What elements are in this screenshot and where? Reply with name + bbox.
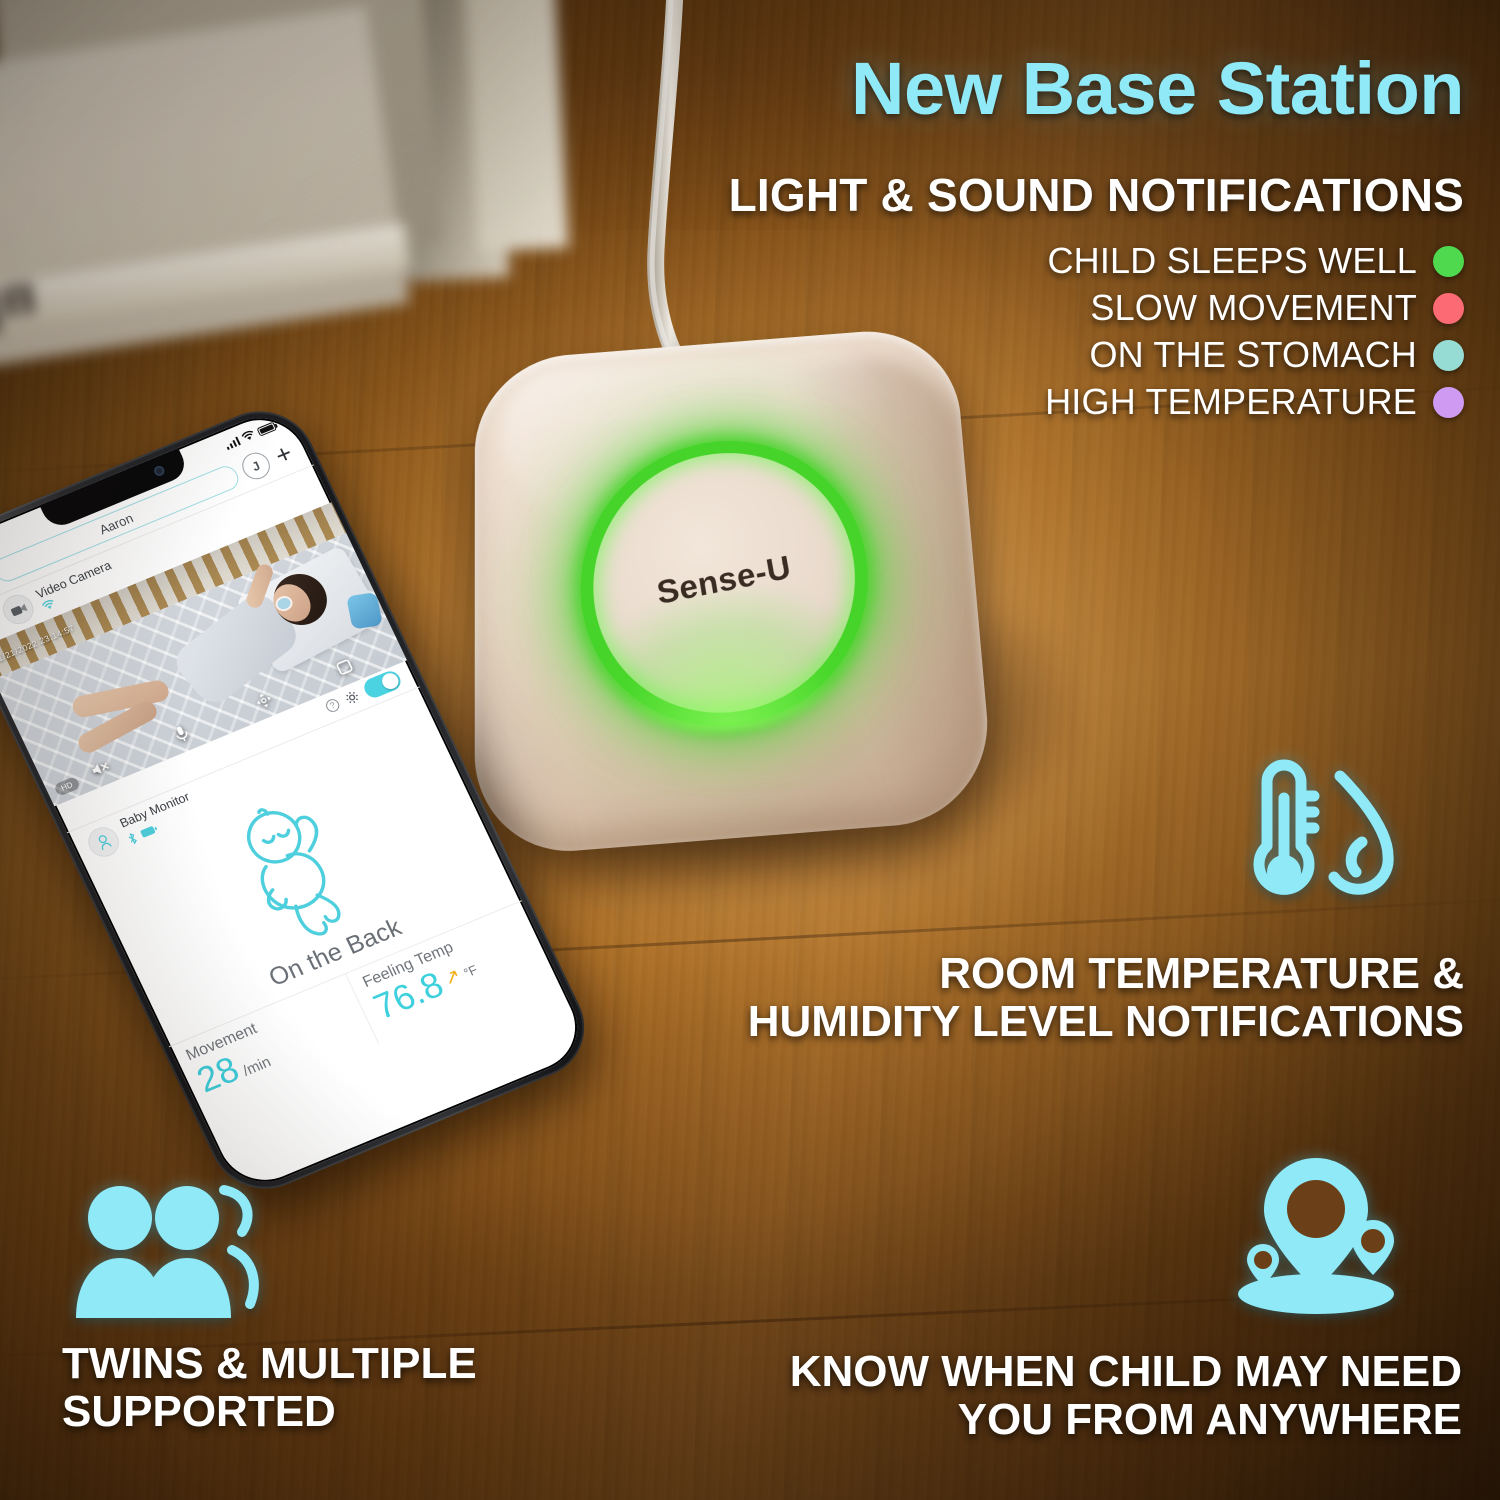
notification-row: HIGH TEMPERATURE: [1045, 381, 1464, 423]
notification-row: ON THE STOMACH: [1089, 334, 1464, 376]
status-dot-red: [1433, 293, 1464, 324]
feature-line-1: KNOW WHEN CHILD MAY NEED: [790, 1348, 1462, 1396]
base-station-body: Sense-U: [475, 325, 996, 859]
notification-label: ON THE STOMACH: [1089, 334, 1417, 376]
feature-room-temp-humidity: ROOM TEMPERATURE & HUMIDITY LEVEL NOTIFI…: [748, 950, 1464, 1047]
status-dot-green: [1433, 246, 1464, 277]
map-pin-icon: [1224, 1158, 1410, 1323]
status-dot-teal: [1433, 340, 1464, 371]
notification-row: SLOW MOVEMENT: [1090, 287, 1464, 329]
notification-row: CHILD SLEEPS WELL: [1047, 240, 1464, 282]
battery-icon: [256, 422, 277, 437]
feature-twins-supported: TWINS & MULTIPLE SUPPORTED: [62, 1340, 477, 1437]
cellular-icon: [224, 437, 241, 451]
bluetooth-icon: [126, 832, 139, 846]
camera-thumbnail: [0, 590, 38, 629]
gear-icon[interactable]: [343, 689, 361, 706]
feature-line-1: TWINS & MULTIPLE: [62, 1340, 477, 1388]
feature-remote-monitoring: KNOW WHEN CHILD MAY NEED YOU FROM ANYWHE…: [790, 1348, 1462, 1445]
crib-toy: [346, 592, 383, 630]
notification-label: HIGH TEMPERATURE: [1045, 381, 1417, 423]
notification-label: SLOW MOVEMENT: [1090, 287, 1417, 329]
product-packaging-box: colu: [0, 0, 580, 390]
page-subtitle: LIGHT & SOUND NOTIFICATIONS: [729, 168, 1464, 222]
help-icon[interactable]: ?: [324, 697, 342, 714]
metric-unit: /min: [240, 1053, 274, 1079]
metric-unit: °F: [461, 962, 480, 981]
feature-line-2: SUPPORTED: [62, 1388, 477, 1436]
notification-label: CHILD SLEEPS WELL: [1047, 240, 1417, 282]
avatar-j[interactable]: J: [238, 449, 275, 484]
wifi-icon: [240, 428, 258, 446]
feature-line-2: YOU FROM ANYWHERE: [790, 1396, 1462, 1444]
monitor-thumbnail: [83, 823, 124, 862]
feature-line-1: ROOM TEMPERATURE &: [748, 950, 1464, 998]
base-station-device: Sense-U: [475, 325, 996, 859]
trend-up-icon: ↗: [441, 965, 465, 990]
status-dot-purple: [1433, 387, 1464, 418]
record-icon[interactable]: [335, 657, 359, 680]
page-title: New Base Station: [851, 46, 1464, 131]
thermometer-humidity-icon: [1238, 750, 1416, 923]
wifi-icon: [41, 598, 57, 612]
feature-line-2: HUMIDITY LEVEL NOTIFICATIONS: [748, 998, 1464, 1046]
device-battery-icon: [137, 820, 160, 843]
box-side-panel-2: [461, 0, 568, 252]
notification-legend: CHILD SLEEPS WELL SLOW MOVEMENT ON THE S…: [1045, 240, 1464, 423]
product-marketing-image: colu: [0, 0, 1500, 1500]
twins-people-icon: [74, 1180, 264, 1325]
add-device-button[interactable]: +: [272, 444, 296, 465]
